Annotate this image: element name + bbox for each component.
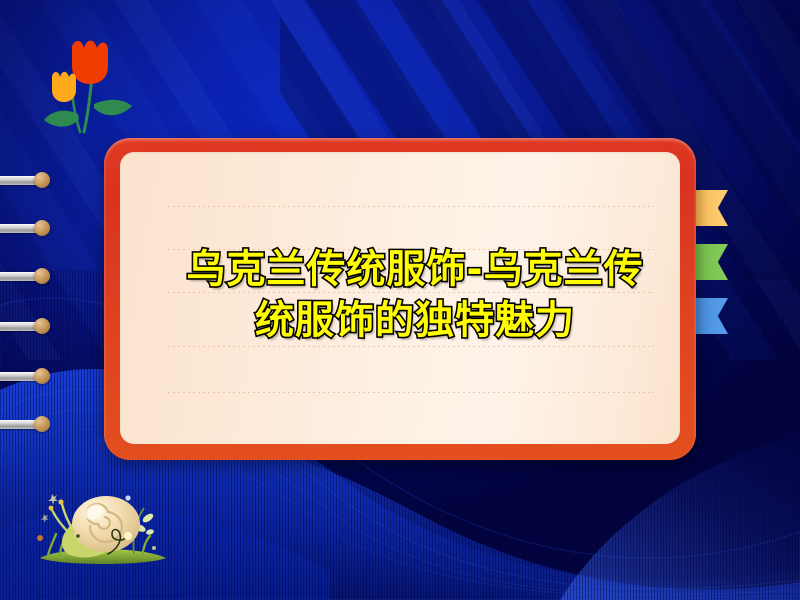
spiral-ring bbox=[0, 220, 62, 235]
ring-knob bbox=[34, 368, 50, 384]
spiral-ring bbox=[0, 318, 62, 333]
ring-knob bbox=[34, 220, 50, 236]
tulip-svg bbox=[34, 28, 138, 138]
ring-knob bbox=[34, 416, 50, 432]
rule-line bbox=[168, 392, 654, 393]
snail-icon bbox=[22, 470, 182, 570]
page-title: 乌克兰传统服饰-乌克兰传 统服饰的独特魅力 bbox=[180, 245, 650, 346]
tulip-icon bbox=[34, 28, 138, 138]
notebook-card: 乌克兰传统服饰-乌克兰传 统服饰的独特魅力 bbox=[104, 138, 696, 460]
slide-canvas: 乌克兰传统服饰-乌克兰传 统服饰的独特魅力 bbox=[0, 0, 800, 600]
spiral-ring bbox=[0, 172, 62, 187]
notebook-spiral-rings bbox=[0, 138, 76, 460]
rule-line bbox=[168, 206, 654, 207]
ring-knob bbox=[34, 268, 50, 284]
ring-knob bbox=[34, 318, 50, 334]
spiral-ring bbox=[0, 368, 62, 383]
ring-knob bbox=[34, 172, 50, 188]
spiral-ring bbox=[0, 416, 62, 431]
notebook-paper: 乌克兰传统服饰-乌克兰传 统服饰的独特魅力 bbox=[120, 152, 680, 444]
spiral-ring bbox=[0, 268, 62, 283]
snail-svg bbox=[22, 470, 182, 570]
